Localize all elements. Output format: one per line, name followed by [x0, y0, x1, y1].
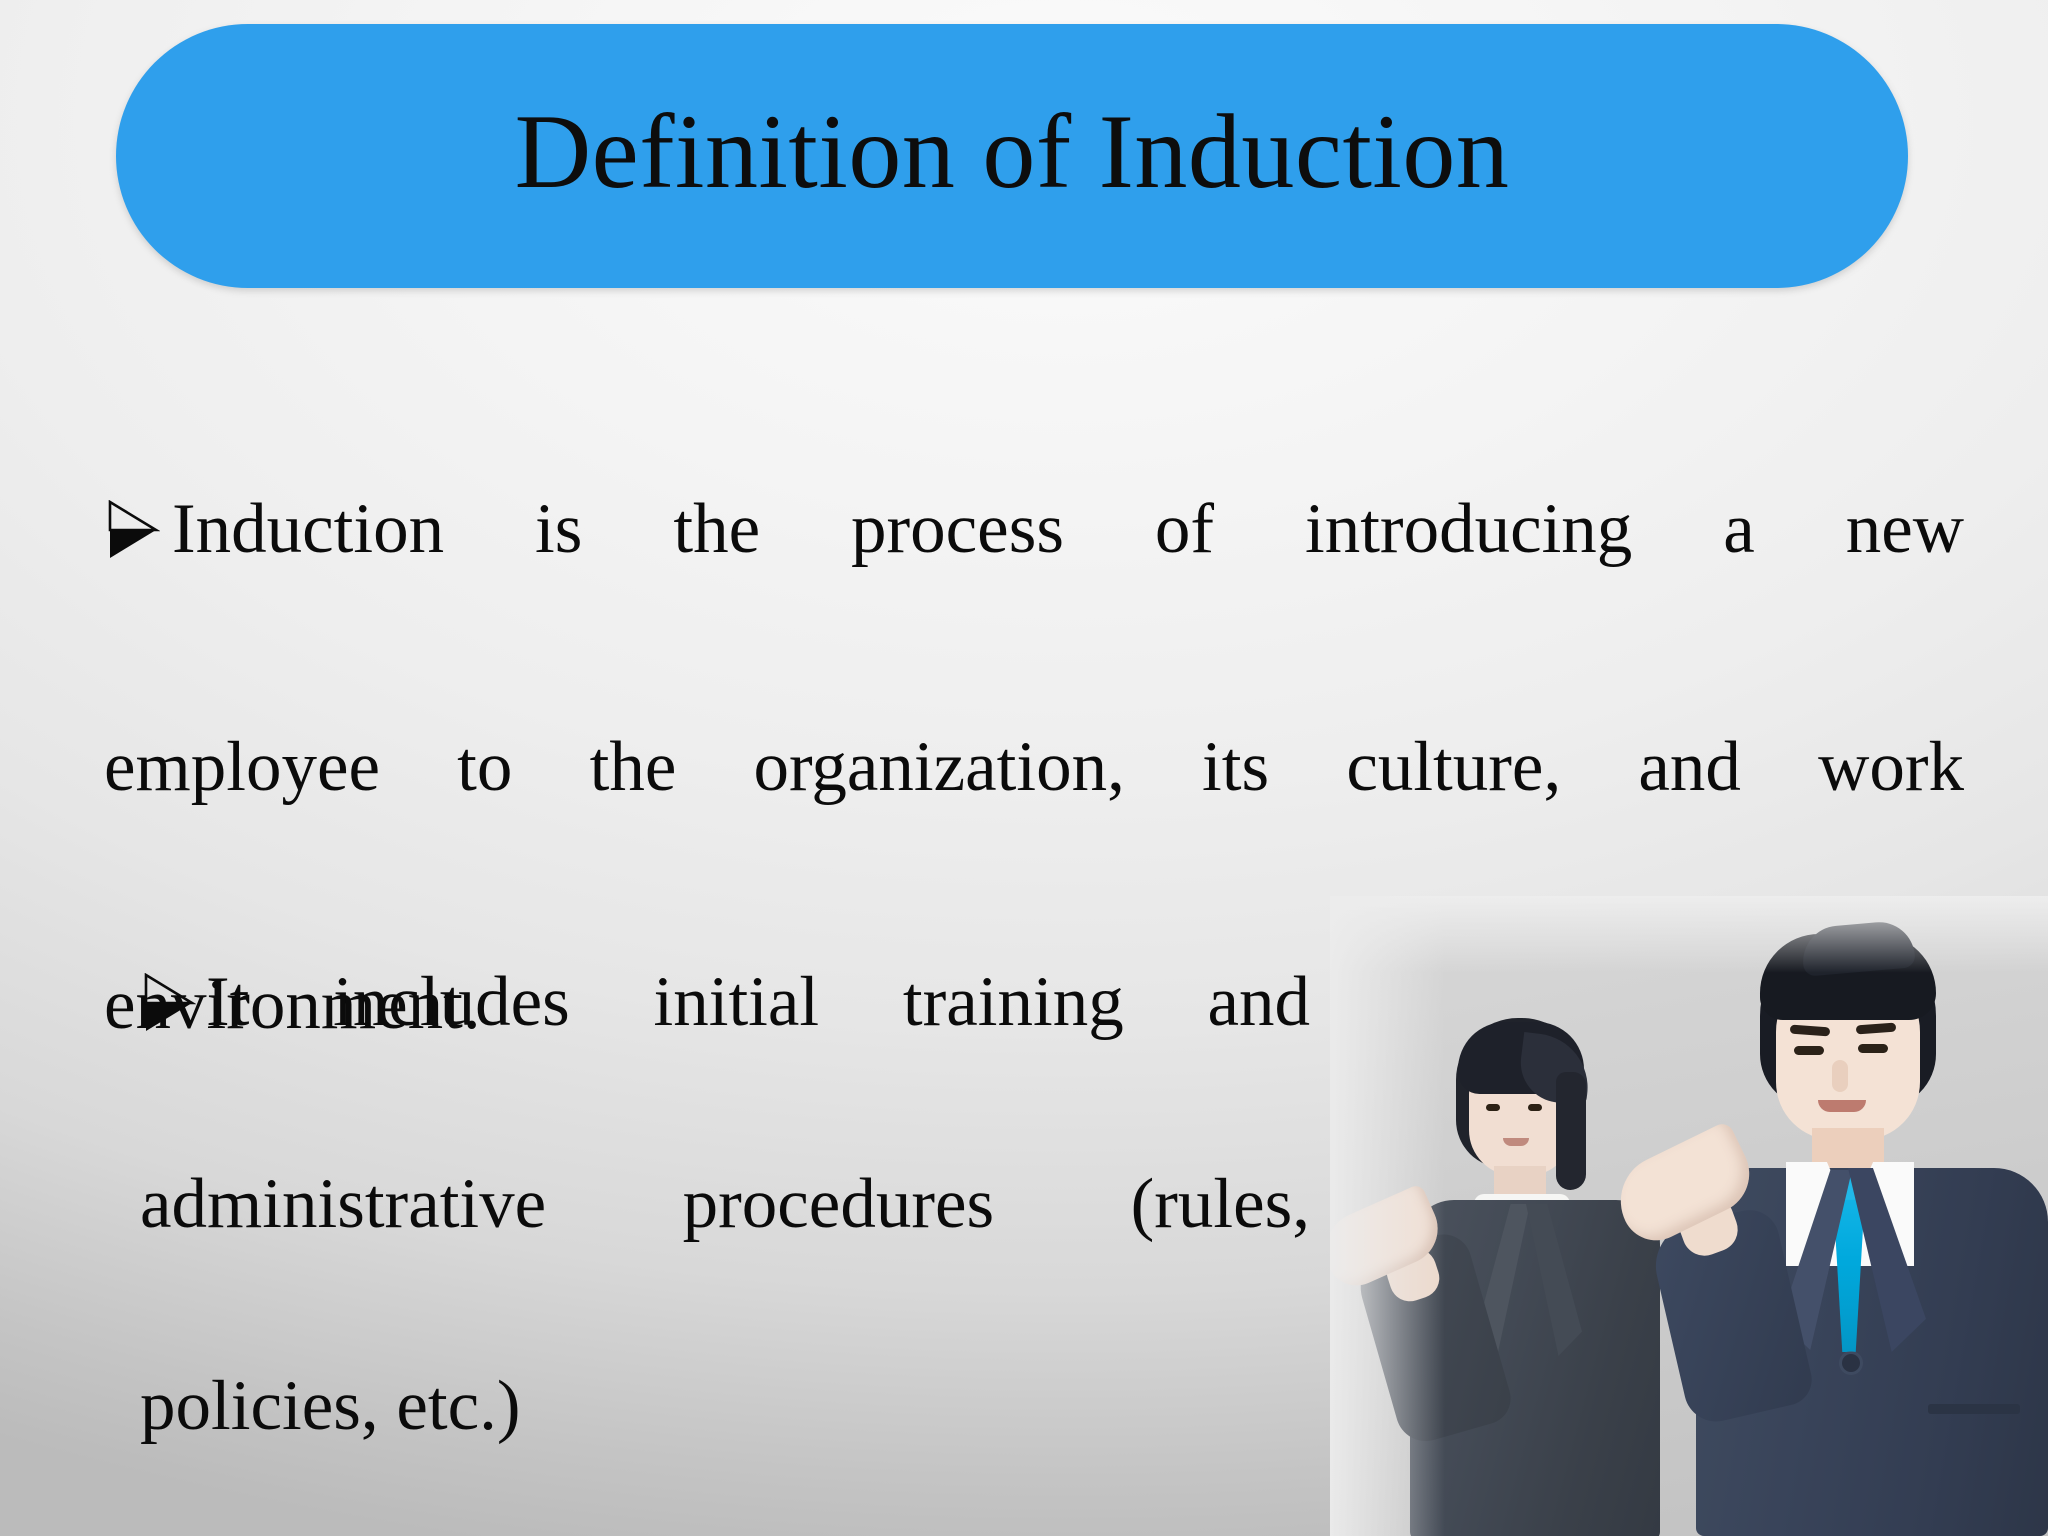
- bullet-1-line-2-text: employee to the organization, its cultur…: [104, 728, 1964, 806]
- man-jacket-button: [1842, 1354, 1860, 1372]
- bullet-2-line-3: policies, etc.): [140, 1356, 1310, 1457]
- bullet-2-line-1: It includes initial training and: [140, 952, 1310, 1154]
- bullet-2-line-2: administrative procedures (rules,: [140, 1154, 1310, 1356]
- page-title: Definition of Induction: [515, 96, 1510, 207]
- woman-mouth: [1503, 1138, 1529, 1146]
- man-eye-right: [1858, 1044, 1888, 1053]
- business-people-photo: [1330, 896, 2048, 1536]
- arrowhead-bullet-icon: [104, 500, 160, 562]
- bullet-1-line-1-text: Induction is the process of introducing …: [172, 490, 1964, 568]
- man-hair-quiff: [1800, 919, 1916, 977]
- slide-canvas: Definition of Induction Induction is the…: [0, 0, 2048, 1536]
- woman-eye-left: [1486, 1104, 1500, 1111]
- bullet-2-line-3-text: policies, etc.): [140, 1367, 520, 1445]
- man-jacket-pocket: [1928, 1404, 2020, 1414]
- man-nose: [1832, 1060, 1848, 1092]
- woman-hair-side: [1556, 1072, 1586, 1190]
- man-eye-left: [1794, 1046, 1824, 1055]
- bullet-2-line-1-text: It includes initial training and: [206, 963, 1310, 1041]
- bullet-2-paragraph: It includes initial training andadminist…: [140, 952, 1310, 1457]
- bullet-2-line-2-text: administrative procedures (rules,: [140, 1165, 1310, 1243]
- title-banner: Definition of Induction: [116, 24, 1908, 288]
- arrowhead-bullet-icon: [140, 973, 196, 1035]
- businesswoman-figure: [1370, 1018, 1700, 1536]
- woman-eye-right: [1528, 1104, 1542, 1111]
- bullet-1-line-1: Induction is the process of introducing …: [104, 470, 1964, 708]
- man-mouth: [1818, 1100, 1866, 1112]
- businessman-figure: [1660, 930, 2048, 1536]
- bullet-item-2: It includes initial training andadminist…: [140, 952, 1310, 1457]
